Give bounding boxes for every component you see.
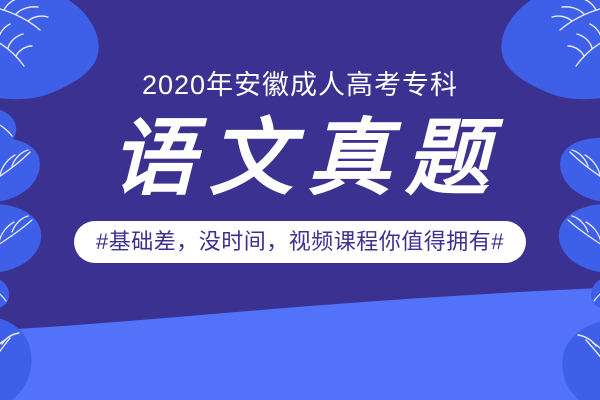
poster-canvas: 2020年安徽成人高考专科 语文真题 #基础差，没时间，视频课程你值得拥有#	[0, 0, 600, 400]
poster-main-title: 语文真题	[97, 116, 503, 200]
tagline-text: #基础差，没时间，视频课程你值得拥有#	[96, 231, 504, 253]
tagline-pill: #基础差，没时间，视频课程你值得拥有#	[74, 221, 526, 263]
poster-content: 2020年安徽成人高考专科 语文真题 #基础差，没时间，视频课程你值得拥有#	[0, 0, 600, 400]
poster-subtitle: 2020年安徽成人高考专科	[142, 72, 458, 99]
